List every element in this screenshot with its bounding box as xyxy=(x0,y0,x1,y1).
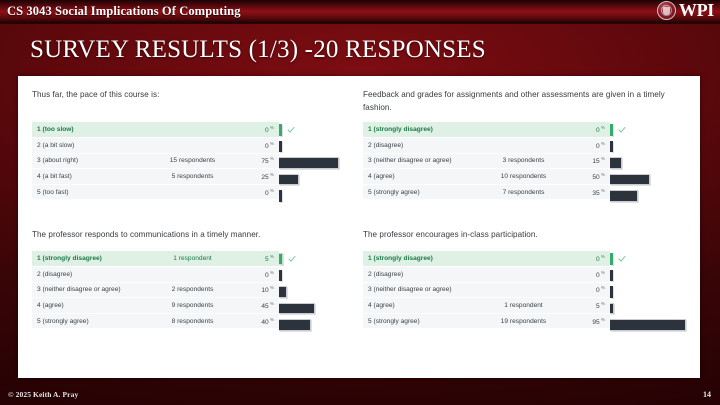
percent-bar xyxy=(610,253,613,265)
respondent-count xyxy=(485,122,562,138)
table-row: 2 (disagree)0% xyxy=(363,138,610,154)
percent-value: 10% xyxy=(231,282,279,298)
percent-symbol: % xyxy=(270,141,274,146)
table-row: 3 (neither disagree or agree)2 responden… xyxy=(32,282,279,298)
option-label: 1 (strongly disagree) xyxy=(363,122,485,138)
table-row: 5 (too fast)0% xyxy=(32,184,279,200)
percent-bar xyxy=(610,319,686,331)
percent-symbol: % xyxy=(601,141,605,146)
bar-row xyxy=(279,268,365,284)
table-row: 3 (neither disagree or agree)0% xyxy=(363,282,610,298)
table-row: 2 (a bit slow)0% xyxy=(32,138,279,154)
table-row: 5 (strongly agree)7 respondents35% xyxy=(363,184,610,200)
bar-row xyxy=(610,284,696,300)
survey-question-4: The professor encourages in-class partic… xyxy=(363,228,693,242)
percent-bar xyxy=(279,141,282,153)
table-row: 1 (strongly disagree)0% xyxy=(363,251,610,267)
respondent-count xyxy=(154,267,231,283)
wpi-logo: WPI xyxy=(657,1,714,20)
survey-question-1: Thus far, the pace of this course is: xyxy=(32,88,362,114)
percent-value: 35% xyxy=(562,184,610,200)
option-label: 5 (too fast) xyxy=(32,184,154,200)
table-row: 1 (strongly disagree)1 respondent5% xyxy=(32,251,279,267)
percent-value: 45% xyxy=(231,298,279,314)
table-row: 1 (strongly disagree)0% xyxy=(363,122,610,138)
survey-table-3: 1 (strongly disagree)1 respondent5%2 (di… xyxy=(32,251,279,329)
survey-question-3: The professor responds to communications… xyxy=(32,228,362,242)
survey-table-2: 1 (strongly disagree)0%2 (disagree)0%3 (… xyxy=(363,122,610,200)
percent-bar xyxy=(279,190,282,202)
percent-value: 50% xyxy=(562,169,610,185)
percent-bar xyxy=(279,253,283,265)
checkmark-icon xyxy=(618,126,626,134)
survey-table-4: 1 (strongly disagree)0%2 (disagree)0%3 (… xyxy=(363,251,610,329)
bar-row xyxy=(610,172,696,188)
wpi-seal-icon xyxy=(657,1,676,20)
bar-row xyxy=(610,122,696,138)
option-label: 2 (disagree) xyxy=(363,267,485,283)
survey-bars-1 xyxy=(279,122,365,205)
table-row: 2 (disagree)0% xyxy=(32,267,279,283)
percent-value: 0% xyxy=(562,138,610,154)
respondent-count: 2 respondents xyxy=(154,282,231,298)
table-row: 4 (agree)10 respondents50% xyxy=(363,169,610,185)
survey-block-4: The professor encourages in-class partic… xyxy=(363,228,693,329)
bar-row xyxy=(279,301,365,317)
percent-bar xyxy=(610,124,613,136)
respondent-count: 1 respondent xyxy=(485,298,562,314)
percent-symbol: % xyxy=(601,172,605,177)
percent-symbol: % xyxy=(270,301,274,306)
survey-results-panel: Thus far, the pace of this course is: 1 … xyxy=(18,76,700,378)
percent-symbol: % xyxy=(270,125,274,130)
table-row: 4 (a bit fast)5 respondents25% xyxy=(32,169,279,185)
survey-bars-3 xyxy=(279,251,365,334)
percent-bar xyxy=(610,174,650,186)
bar-row xyxy=(610,301,696,317)
table-row: 3 (about right)15 respondents75% xyxy=(32,153,279,169)
option-label: 5 (strongly agree) xyxy=(363,313,485,329)
bar-row xyxy=(279,139,365,155)
percent-value: 0% xyxy=(562,122,610,138)
wpi-logo-text: WPI xyxy=(679,1,714,20)
percent-bar xyxy=(279,124,282,136)
bar-row xyxy=(279,188,365,204)
respondent-count: 5 respondents xyxy=(154,169,231,185)
percent-symbol: % xyxy=(601,270,605,275)
percent-symbol: % xyxy=(270,270,274,275)
percent-symbol: % xyxy=(601,188,605,193)
option-label: 5 (strongly agree) xyxy=(32,313,154,329)
option-label: 1 (strongly disagree) xyxy=(32,251,154,267)
bar-row xyxy=(610,188,696,204)
table-row: 2 (disagree)0% xyxy=(363,267,610,283)
percent-value: 0% xyxy=(231,122,279,138)
option-label: 2 (a bit slow) xyxy=(32,138,154,154)
respondent-count: 19 respondents xyxy=(485,313,562,329)
bar-row xyxy=(279,251,365,267)
percent-bar xyxy=(610,303,614,315)
percent-value: 0% xyxy=(562,251,610,267)
bar-row xyxy=(610,139,696,155)
footer-copyright: © 2025 Keith A. Pray xyxy=(8,390,78,399)
bar-row xyxy=(610,268,696,284)
table-row: 1 (too slow)0% xyxy=(32,122,279,138)
respondent-count xyxy=(154,138,231,154)
bar-row xyxy=(279,172,365,188)
respondent-count: 9 respondents xyxy=(154,298,231,314)
percent-value: 75% xyxy=(231,153,279,169)
percent-bar xyxy=(279,286,287,298)
percent-bar xyxy=(279,303,315,315)
percent-bar xyxy=(279,270,282,282)
option-label: 5 (strongly agree) xyxy=(363,184,485,200)
respondent-count: 3 respondents xyxy=(485,153,562,169)
option-label: 1 (too slow) xyxy=(32,122,154,138)
footer-page-number: 14 xyxy=(703,390,711,399)
survey-block-3: The professor responds to communications… xyxy=(32,228,362,329)
option-label: 2 (disagree) xyxy=(363,138,485,154)
option-label: 3 (neither disagree or agree) xyxy=(363,153,485,169)
wpi-seal-shield-icon xyxy=(663,7,670,15)
percent-symbol: % xyxy=(270,188,274,193)
percent-bar xyxy=(279,157,339,169)
percent-bar xyxy=(279,319,311,331)
respondent-count: 7 respondents xyxy=(485,184,562,200)
respondent-count xyxy=(485,138,562,154)
survey-block-1: Thus far, the pace of this course is: 1 … xyxy=(32,88,362,200)
percent-value: 0% xyxy=(231,138,279,154)
percent-bar xyxy=(610,157,622,169)
option-label: 4 (a bit fast) xyxy=(32,169,154,185)
percent-bar xyxy=(279,174,299,186)
percent-value: 5% xyxy=(231,251,279,267)
percent-symbol: % xyxy=(601,254,605,259)
percent-value: 0% xyxy=(231,267,279,283)
table-row: 5 (strongly agree)19 respondents95% xyxy=(363,313,610,329)
percent-bar xyxy=(610,190,638,202)
percent-value: 0% xyxy=(562,282,610,298)
slide-header-bar: CS 3043 Social Implications Of Computing… xyxy=(0,0,720,24)
option-label: 3 (neither disagree or agree) xyxy=(363,282,485,298)
table-row: 4 (agree)9 respondents45% xyxy=(32,298,279,314)
option-label: 3 (about right) xyxy=(32,153,154,169)
percent-value: 40% xyxy=(231,313,279,329)
survey-bars-2 xyxy=(610,122,696,205)
bar-row xyxy=(610,251,696,267)
respondent-count: 8 respondents xyxy=(154,313,231,329)
percent-symbol: % xyxy=(601,317,605,322)
percent-value: 95% xyxy=(562,313,610,329)
course-title: CS 3043 Social Implications Of Computing xyxy=(7,4,241,19)
checkmark-icon xyxy=(287,126,295,134)
percent-bar xyxy=(610,286,613,298)
percent-symbol: % xyxy=(270,254,274,259)
percent-symbol: % xyxy=(270,172,274,177)
bar-row xyxy=(279,155,365,171)
percent-value: 25% xyxy=(231,169,279,185)
percent-symbol: % xyxy=(601,125,605,130)
bar-row xyxy=(279,317,365,333)
checkmark-icon xyxy=(618,255,626,263)
respondent-count xyxy=(485,282,562,298)
option-label: 4 (agree) xyxy=(363,298,485,314)
respondent-count: 15 respondents xyxy=(154,153,231,169)
respondent-count: 1 respondent xyxy=(154,251,231,267)
percent-symbol: % xyxy=(270,285,274,290)
survey-bars-4 xyxy=(610,251,696,334)
checkmark-icon xyxy=(288,255,296,263)
percent-symbol: % xyxy=(601,285,605,290)
table-row: 4 (agree)1 respondent5% xyxy=(363,298,610,314)
bar-row xyxy=(610,155,696,171)
percent-value: 5% xyxy=(562,298,610,314)
option-label: 3 (neither disagree or agree) xyxy=(32,282,154,298)
option-label: 4 (agree) xyxy=(32,298,154,314)
bar-row xyxy=(610,317,696,333)
respondent-count xyxy=(154,122,231,138)
percent-symbol: % xyxy=(270,317,274,322)
respondent-count xyxy=(485,251,562,267)
option-label: 1 (strongly disagree) xyxy=(363,251,485,267)
respondent-count xyxy=(154,184,231,200)
survey-block-2: Feedback and grades for assignments and … xyxy=(363,88,693,200)
percent-bar xyxy=(610,141,613,153)
page-title: SURVEY RESULTS (1/3) -20 RESPONSES xyxy=(30,36,486,64)
percent-symbol: % xyxy=(270,156,274,161)
option-label: 2 (disagree) xyxy=(32,267,154,283)
bar-row xyxy=(279,122,365,138)
table-row: 5 (strongly agree)8 respondents40% xyxy=(32,313,279,329)
percent-symbol: % xyxy=(601,301,605,306)
respondent-count: 10 respondents xyxy=(485,169,562,185)
percent-value: 0% xyxy=(231,184,279,200)
percent-value: 0% xyxy=(562,267,610,283)
respondent-count xyxy=(485,267,562,283)
bar-row xyxy=(279,284,365,300)
survey-table-1: 1 (too slow)0%2 (a bit slow)0%3 (about r… xyxy=(32,122,279,200)
table-row: 3 (neither disagree or agree)3 responden… xyxy=(363,153,610,169)
percent-bar xyxy=(610,270,613,282)
survey-question-2: Feedback and grades for assignments and … xyxy=(363,88,693,114)
percent-value: 15% xyxy=(562,153,610,169)
percent-symbol: % xyxy=(601,156,605,161)
option-label: 4 (agree) xyxy=(363,169,485,185)
